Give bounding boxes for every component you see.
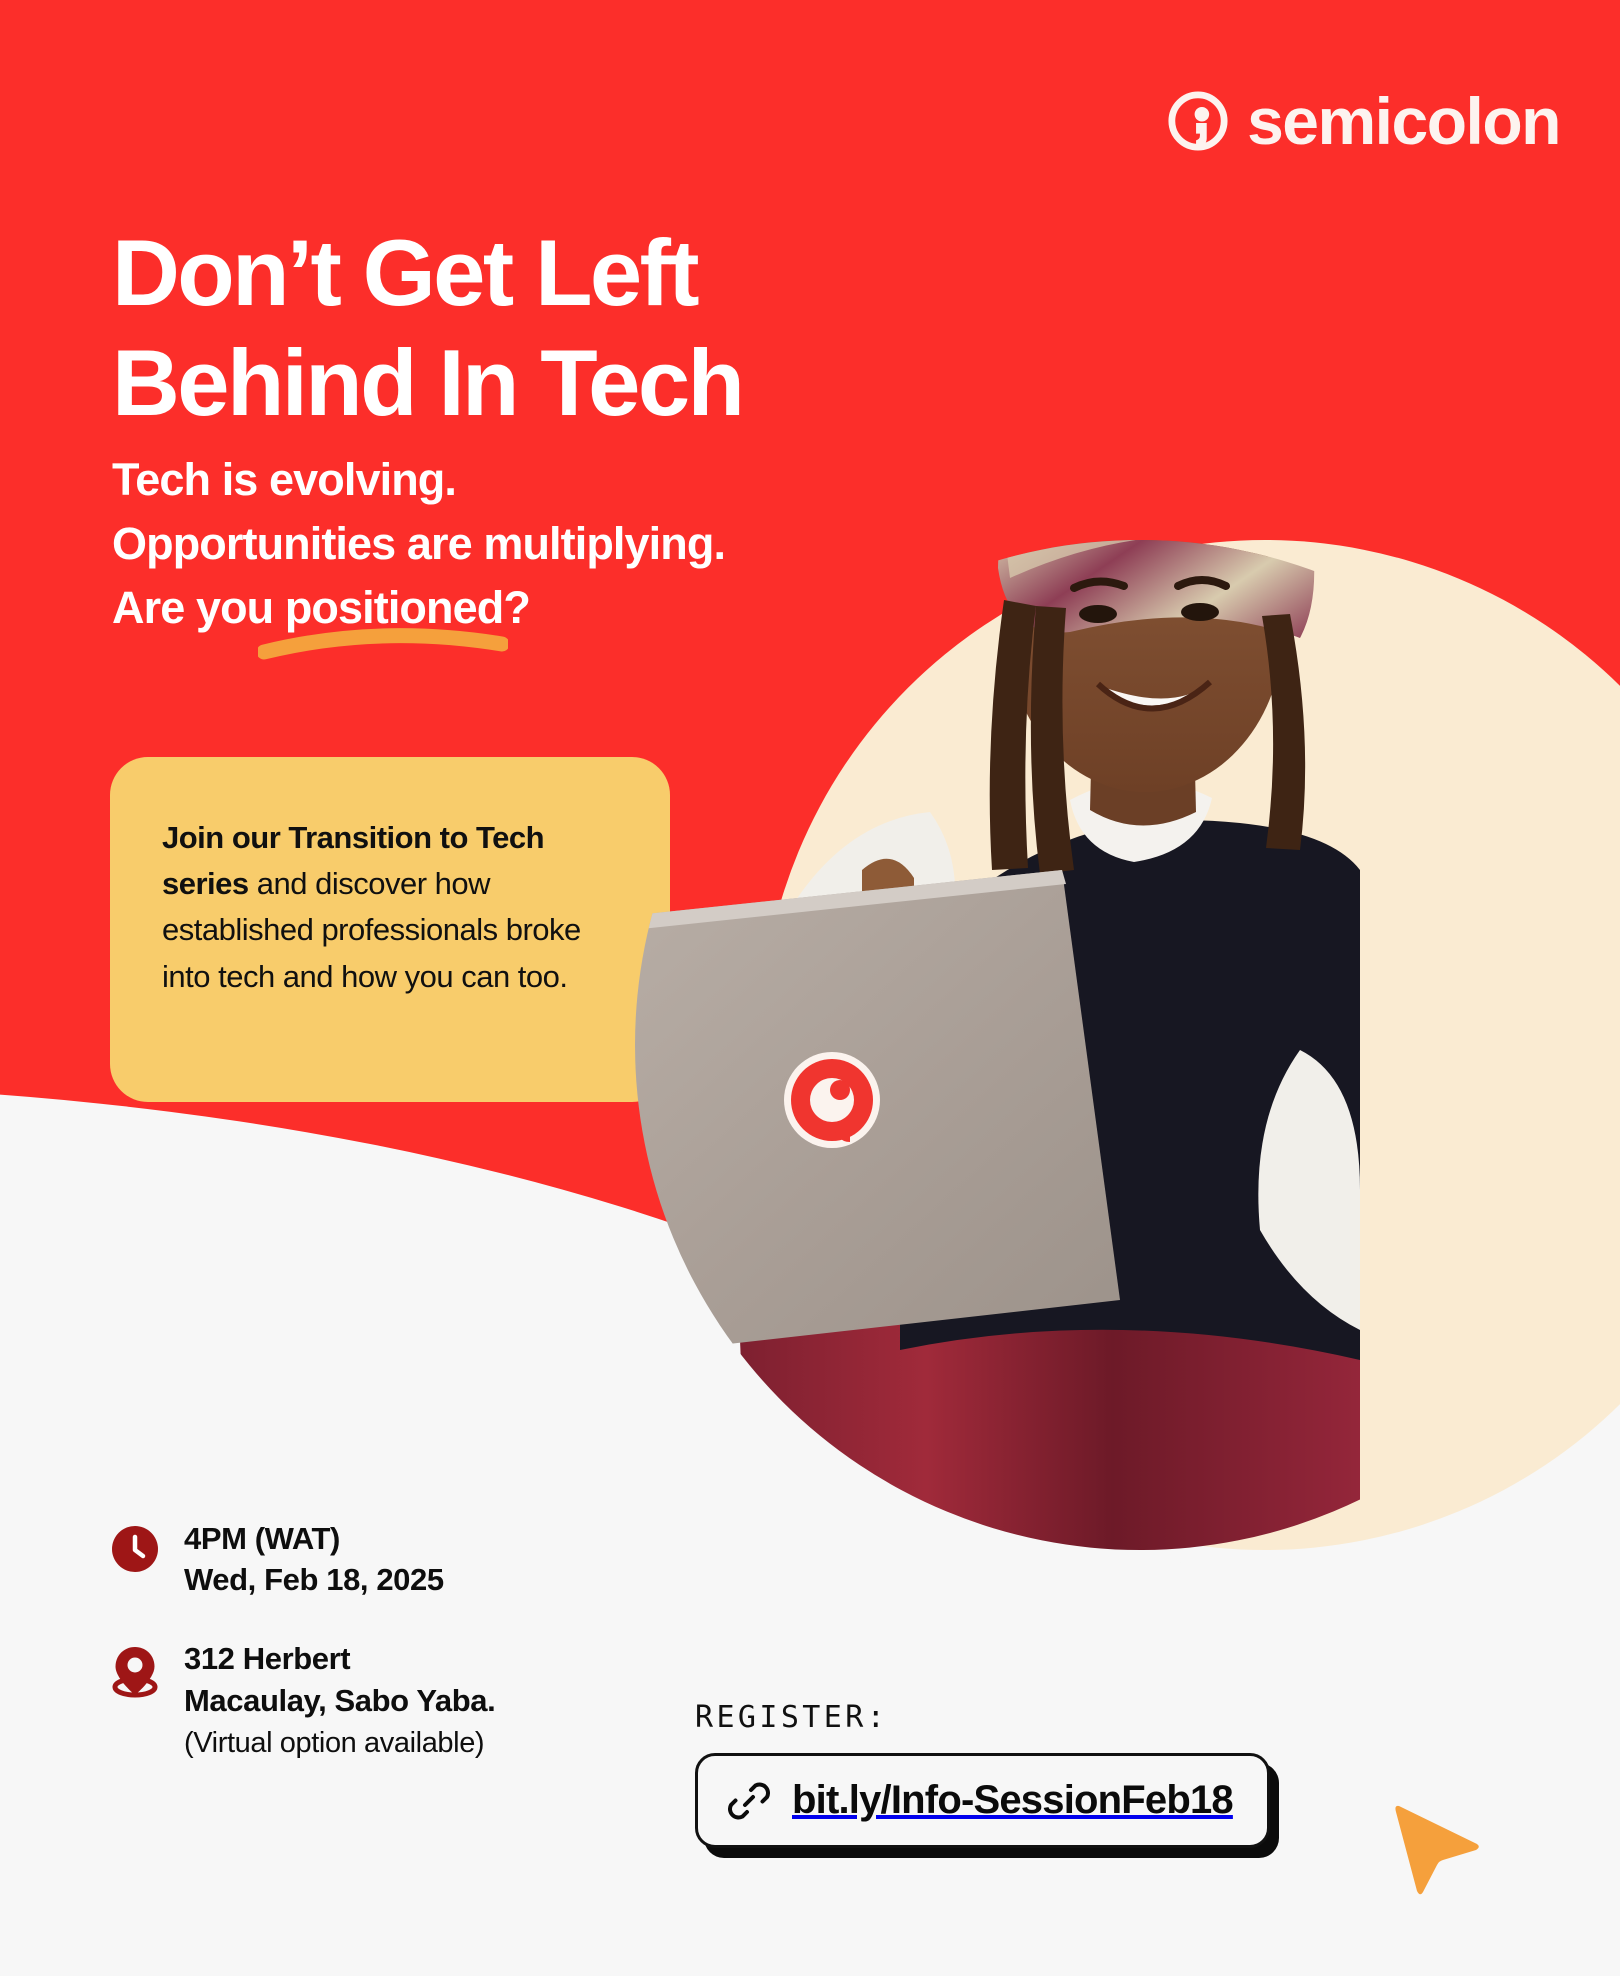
address-line-2: Macaulay, Sabo Yaba. [184,1680,495,1721]
link-chain-icon [728,1780,770,1822]
subhead-line-1: Tech is evolving. [112,448,725,512]
event-time-text: 4PM (WAT) Wed, Feb 18, 2025 [184,1518,444,1600]
virtual-option-note: (Virtual option available) [184,1724,495,1763]
headline-line-1: Don’t Get Left [112,218,742,328]
event-location-text: 312 Herbert Macaulay, Sabo Yaba. (Virtua… [184,1638,495,1762]
register-link-button[interactable]: bit.ly/Info-SessionFeb18 [695,1753,1270,1848]
event-date: Wed, Feb 18, 2025 [184,1559,444,1600]
event-time-row: 4PM (WAT) Wed, Feb 18, 2025 [112,1518,495,1600]
event-location-row: 312 Herbert Macaulay, Sabo Yaba. (Virtua… [112,1638,495,1762]
register-url: bit.ly/Info-SessionFeb18 [792,1778,1233,1823]
brand-name: semicolon [1247,88,1560,154]
cursor-arrow-icon [1393,1802,1483,1898]
subheading: Tech is evolving. Opportunities are mult… [112,448,725,640]
headline-line-2: Behind In Tech [112,328,742,438]
underline-swash [258,620,508,662]
highlight-card-text: Join our Transition to Tech series and d… [162,815,582,1000]
subhead-line-2: Opportunities are multiplying. [112,512,725,576]
event-details: 4PM (WAT) Wed, Feb 18, 2025 312 Herbert … [112,1518,495,1800]
event-time: 4PM (WAT) [184,1518,444,1559]
semicolon-circle-icon [1167,90,1229,152]
register-section: REGISTER: bit.ly/Info-SessionFeb18 [695,1700,1270,1848]
event-flyer: semicolon Don’t Get Left Behind In Tech … [0,0,1620,1976]
page-title: Don’t Get Left Behind In Tech [112,218,742,438]
register-label: REGISTER: [695,1700,1270,1735]
address-line-1: 312 Herbert [184,1638,495,1679]
clock-icon [112,1518,158,1577]
map-pin-icon [112,1638,158,1703]
brand-logo: semicolon [1167,88,1560,154]
